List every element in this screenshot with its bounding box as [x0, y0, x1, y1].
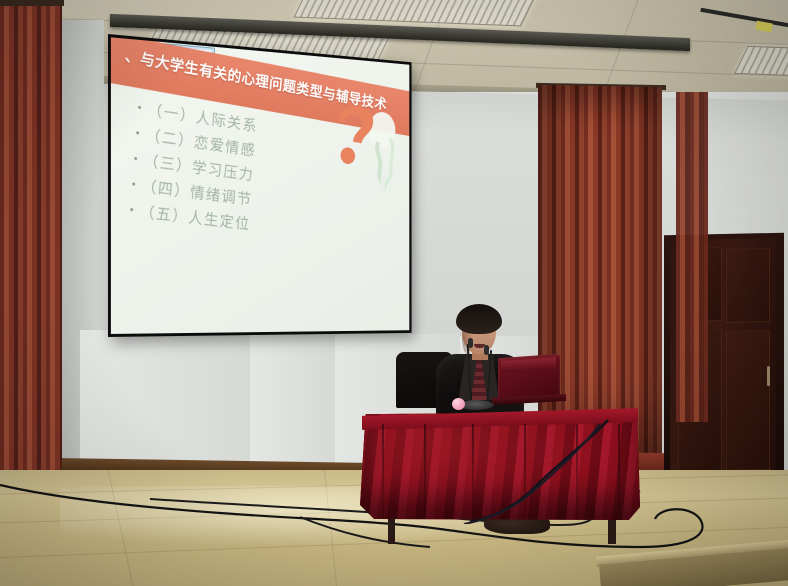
- wall-panel: [250, 332, 336, 472]
- bullet-dot-icon: [130, 208, 133, 211]
- projection-screen: 、与大学生有关的心理问题类型与辅导技术 （一）人际关系: [108, 34, 460, 339]
- bullet-dot-icon: [134, 156, 137, 159]
- bullet-dot-icon: [138, 105, 141, 108]
- curtain-right: [676, 92, 708, 422]
- door-handle[interactable]: [767, 366, 770, 386]
- bullet-dot-icon: [136, 131, 139, 134]
- curtain-rod: [0, 0, 64, 6]
- pink-flower: [452, 398, 465, 410]
- wall-panel: [80, 330, 251, 470]
- presentation-slide: 、与大学生有关的心理问题类型与辅导技术 （一）人际关系: [111, 37, 409, 334]
- door-panel: [726, 330, 770, 471]
- microphone-head: [484, 345, 489, 355]
- cable-over-tablecloth: [360, 414, 610, 524]
- microphone-head: [468, 338, 473, 348]
- door-panel: [726, 248, 770, 323]
- curtain-left: [0, 0, 62, 492]
- speaker-hair: [456, 304, 502, 334]
- lecture-hall-photo: 、与大学生有关的心理问题类型与辅导技术 （一）人际关系: [0, 0, 788, 586]
- bullet-dot-icon: [132, 182, 135, 185]
- laptop-lid: [501, 357, 556, 373]
